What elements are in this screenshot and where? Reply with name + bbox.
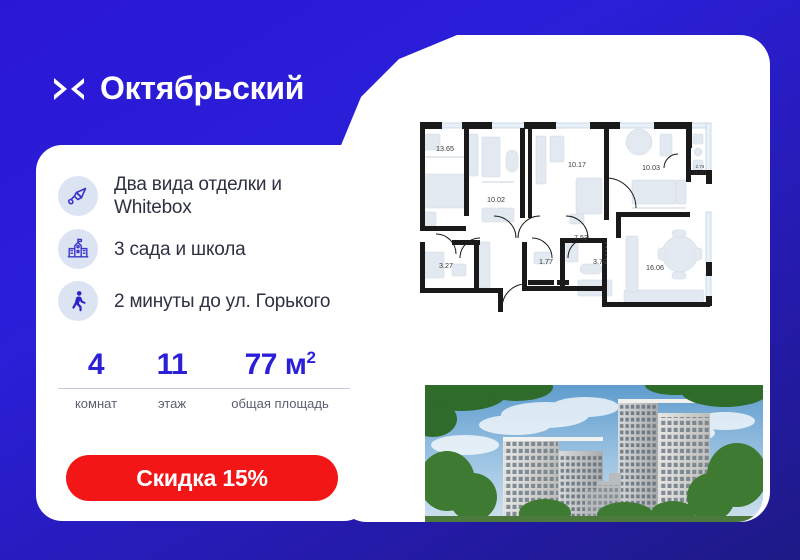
floor-plan-svg: 13.65 10.02 10.17 10.03 2.74 (1.37) 3.27… [410, 112, 735, 312]
promo-card-root: Октябрьский [0, 0, 800, 560]
balcony-area-label: 2.74 [696, 164, 705, 169]
stat-caption-rooms: комнат [58, 396, 134, 412]
brand-header: Октябрьский [0, 0, 400, 150]
balcony-area-sub-label: (1.37) [694, 170, 706, 175]
pedestrian-walking-icon [58, 281, 98, 321]
building-photo[interactable] [425, 385, 763, 522]
feature-label: 2 минуты до ул. Горького [114, 290, 330, 313]
trowel-icon [58, 176, 98, 216]
feature-item-finishing[interactable]: Два вида отделки и Whitebox [58, 173, 358, 219]
feature-label: Два вида отделки и Whitebox [114, 173, 358, 219]
room-area-label: 16.06 [646, 263, 664, 272]
school-building-icon [58, 229, 98, 269]
brand-logo[interactable]: Октябрьский [52, 70, 304, 107]
room-area-label: 1.77 [539, 257, 553, 266]
building-photo-illustration [425, 385, 763, 522]
feature-label: 3 сада и школа [114, 238, 246, 261]
stat-caption-area: общая площадь [210, 396, 350, 412]
floor-plan[interactable]: 13.65 10.02 10.17 10.03 2.74 (1.37) 3.27… [410, 112, 735, 312]
stat-value-floor: 11 [134, 350, 210, 380]
x-mark-logo-icon [52, 74, 86, 104]
room-area-label: 3.78 [593, 257, 607, 266]
feature-list: Два вида отделки и Whitebox [58, 173, 358, 331]
room-area-label: 13.65 [436, 144, 454, 153]
room-area-label: 10.17 [568, 160, 586, 169]
discount-button[interactable]: Скидка 15% [66, 455, 338, 501]
feature-item-schools[interactable]: 3 сада и школа [58, 229, 358, 269]
info-card: Два вида отделки и Whitebox [36, 145, 370, 521]
room-area-label: 10.03 [642, 163, 660, 172]
stat-value-area-text: 77 м [245, 348, 307, 381]
feature-item-walk-distance[interactable]: 2 минуты до ул. Горького [58, 281, 358, 321]
stat-value-area-unit: 2 [306, 348, 315, 367]
stat-caption-floor: этаж [134, 396, 210, 412]
stats-block: 4 11 77 м2 комнат этаж общая площадь [58, 350, 350, 412]
right-white-panel: 13.65 10.02 10.17 10.03 2.74 (1.37) 3.27… [337, 35, 770, 522]
stats-values-row: 4 11 77 м2 [58, 350, 350, 388]
stat-value-area: 77 м2 [210, 350, 350, 380]
room-area-label: 3.27 [439, 261, 453, 270]
stats-captions-row: комнат этаж общая площадь [58, 389, 350, 412]
room-area-label: 7.52 [574, 233, 588, 242]
room-area-label: 10.02 [487, 195, 505, 204]
brand-name: Октябрьский [100, 70, 304, 107]
stat-value-rooms: 4 [58, 350, 134, 380]
